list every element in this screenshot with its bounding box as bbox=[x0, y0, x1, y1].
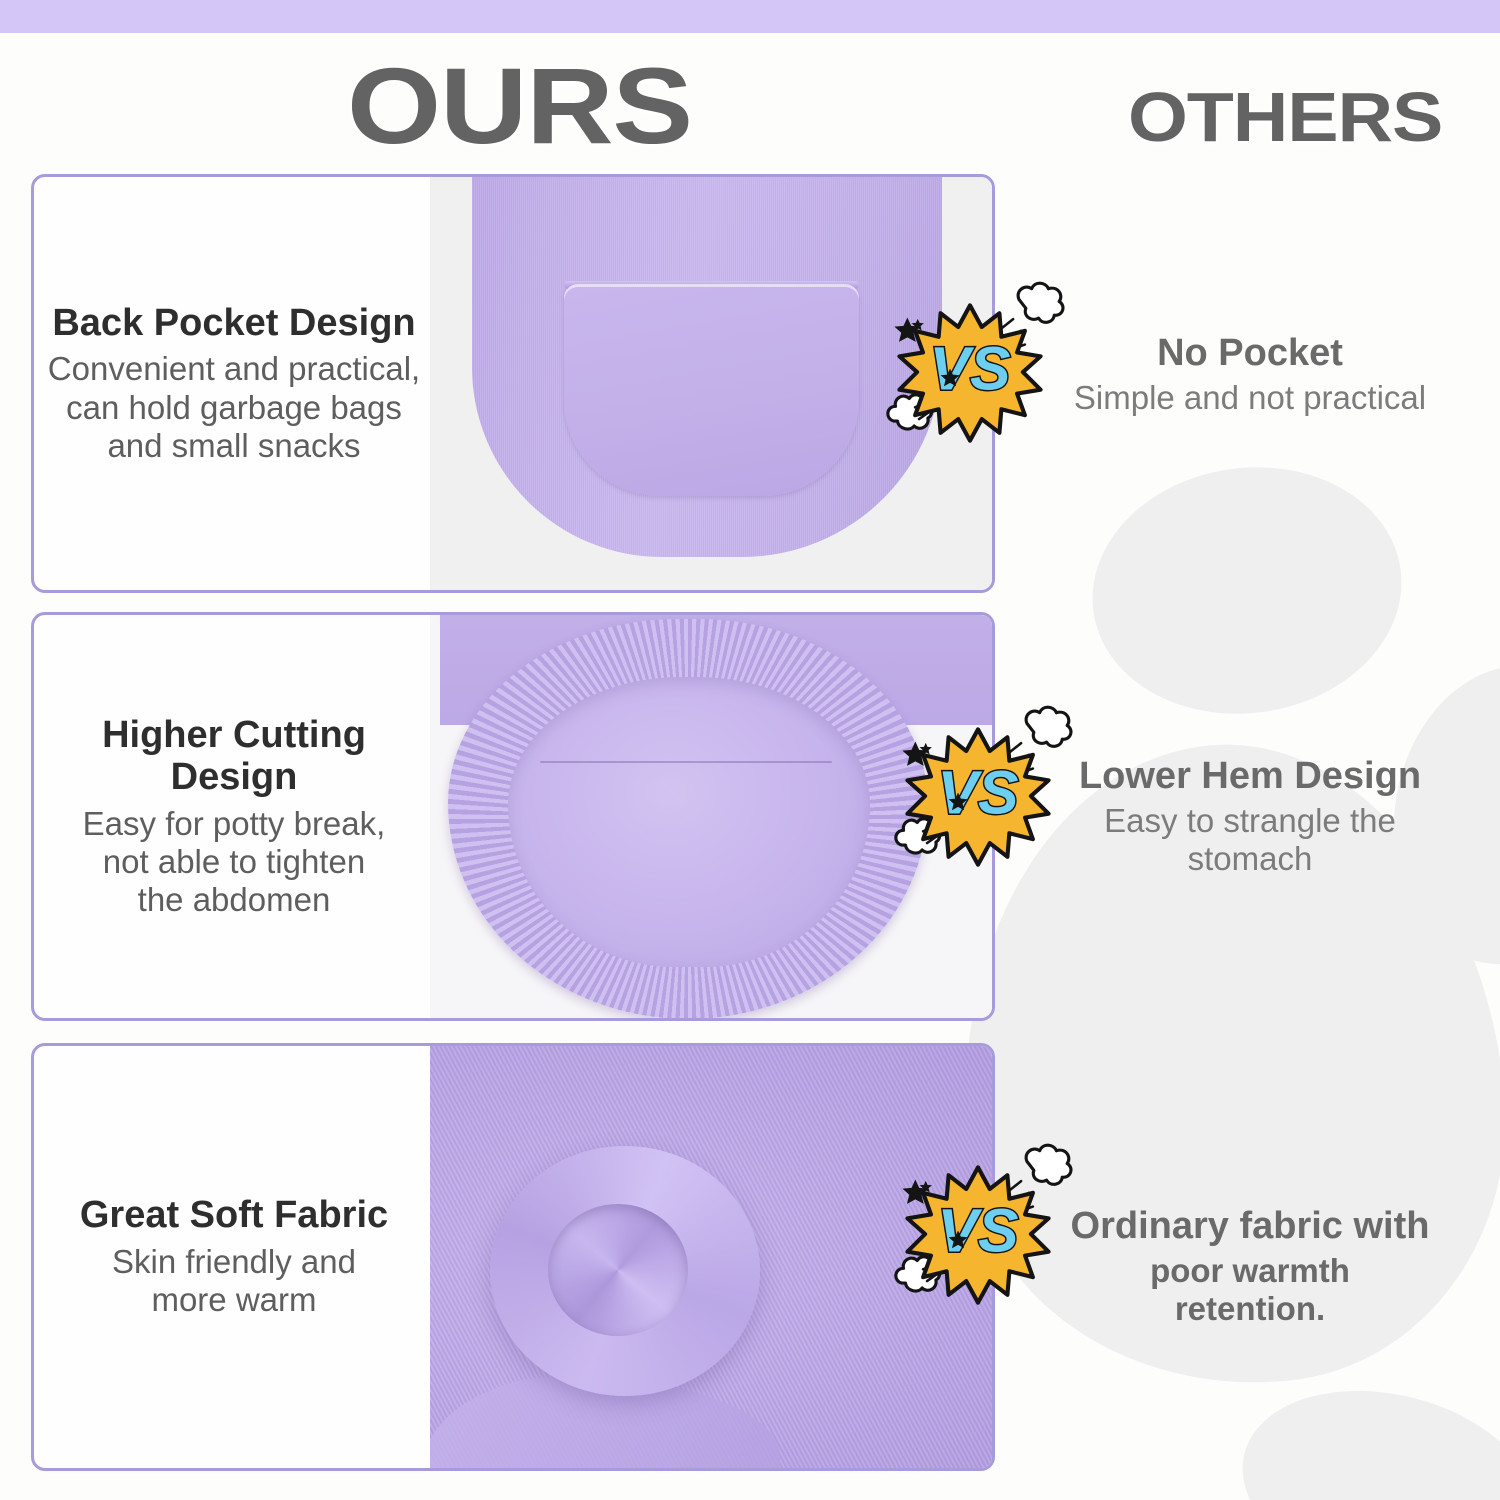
vs-badge-label: VS bbox=[937, 759, 1018, 827]
comparison-card: Back Pocket Design Convenient and practi… bbox=[31, 174, 995, 593]
comparison-card: Great Soft Fabric Skin friendly andmore … bbox=[31, 1043, 995, 1471]
vs-badge-label: VS bbox=[937, 1197, 1018, 1265]
ours-feature-title: Back Pocket Design bbox=[52, 302, 415, 345]
comparison-infographic: OURS OTHERS Back Pocket Design Convenien… bbox=[0, 0, 1500, 1500]
others-feature-description: Simple and not practical bbox=[1040, 379, 1460, 417]
vs-badge-label: VS bbox=[929, 335, 1010, 403]
ours-text-block: Great Soft Fabric Skin friendly andmore … bbox=[34, 1046, 434, 1468]
others-feature-title: No Pocket bbox=[1040, 332, 1460, 375]
ours-text-block: Back Pocket Design Convenient and practi… bbox=[34, 177, 434, 590]
ours-feature-description: Convenient and practical,can hold garbag… bbox=[48, 350, 420, 465]
paw-print-notch bbox=[1000, 1415, 1230, 1500]
ours-feature-title: Higher CuttingDesign bbox=[102, 714, 366, 799]
others-feature-description: poor warmthretention. bbox=[1040, 1252, 1460, 1329]
others-feature-title: Ordinary fabric with bbox=[1040, 1205, 1460, 1248]
vs-badge: VS bbox=[872, 276, 1068, 472]
paw-print-toe-icon bbox=[1076, 448, 1417, 734]
others-text-block: Ordinary fabric with poor warmthretentio… bbox=[1040, 1205, 1460, 1328]
ours-text-block: Higher CuttingDesign Easy for potty brea… bbox=[34, 615, 434, 1018]
others-feature-description: Easy to strangle thestomach bbox=[1040, 802, 1460, 879]
others-feature-title: Lower Hem Design bbox=[1040, 755, 1460, 798]
ours-feature-description: Easy for potty break,not able to tighten… bbox=[83, 805, 386, 920]
comparison-card: Higher CuttingDesign Easy for potty brea… bbox=[31, 612, 995, 1021]
others-text-block: Lower Hem Design Easy to strangle thesto… bbox=[1040, 755, 1460, 878]
ours-feature-description: Skin friendly andmore warm bbox=[112, 1243, 356, 1320]
paw-print-toe-icon bbox=[1221, 1362, 1500, 1500]
ours-feature-title: Great Soft Fabric bbox=[80, 1194, 388, 1237]
page-title-others: OTHERS bbox=[1128, 82, 1442, 152]
page-title-ours: OURS bbox=[347, 52, 692, 160]
others-text-block: No Pocket Simple and not practical bbox=[1040, 332, 1460, 417]
vs-badge: VS bbox=[880, 1138, 1076, 1334]
top-accent-bar bbox=[0, 0, 1500, 33]
vs-badge: VS bbox=[880, 700, 1076, 896]
